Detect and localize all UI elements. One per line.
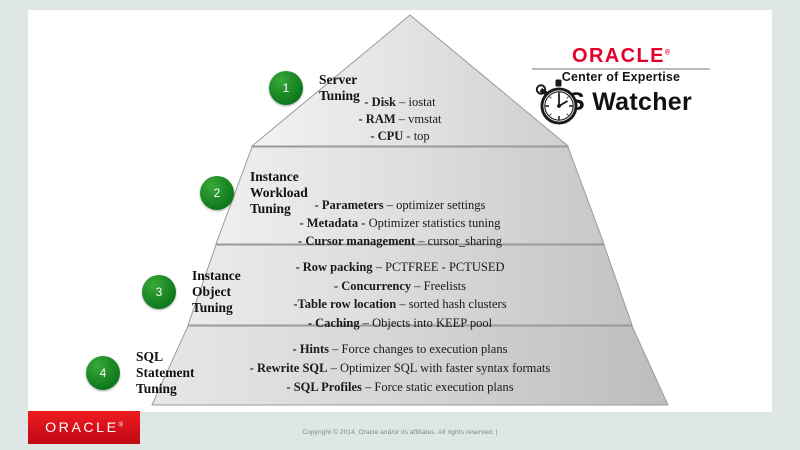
step-1-server-tuning: 1 Server Tuning: [269, 71, 360, 105]
pyramid-tier-3-shape: [188, 245, 632, 325]
step-2-label: Instance Workload Tuning: [250, 169, 308, 217]
coe-oracle-wordmark: ORACLE®: [526, 46, 716, 66]
oracle-coe-logo: ORACLE® Center of Expertise: [526, 46, 716, 124]
step-4-bullet: 4: [86, 356, 120, 390]
step-2-bullet: 2: [200, 176, 234, 210]
step-3-bullet: 3: [142, 275, 176, 309]
step-3-instance-object-tuning: 3 Instance Object Tuning: [142, 268, 241, 316]
stopwatch-icon: [534, 79, 586, 127]
os-watcher-title: S Watcher: [568, 88, 692, 117]
step-4-sql-statement-tuning: 4 SQL Statement Tuning: [86, 349, 194, 397]
step-4-number: 4: [100, 366, 107, 380]
step-1-bullet: 1: [269, 71, 303, 105]
oracle-footer-logo: ORACLE®: [28, 411, 140, 444]
copyright-text: Copyright © 2014, Oracle and/or its affi…: [0, 429, 800, 436]
os-watcher-row: S Watcher: [526, 85, 716, 119]
step-1-number: 1: [283, 81, 290, 95]
coe-oracle-text: ORACLE: [572, 45, 665, 67]
coe-registered-icon: ®: [665, 49, 670, 56]
slide-canvas: - Disk – iostat - RAM – vmstat - CPU - t…: [28, 10, 772, 412]
step-2-number: 2: [214, 186, 221, 200]
oracle-footer-registered-icon: ®: [118, 423, 123, 429]
step-3-label: Instance Object Tuning: [192, 268, 241, 316]
pyramid-tier-4-shape: [152, 326, 668, 405]
step-4-label: SQL Statement Tuning: [136, 349, 194, 397]
step-2-instance-workload-tuning: 2 Instance Workload Tuning: [200, 169, 308, 217]
step-3-number: 3: [156, 285, 163, 299]
step-1-label: Server Tuning: [319, 72, 360, 104]
